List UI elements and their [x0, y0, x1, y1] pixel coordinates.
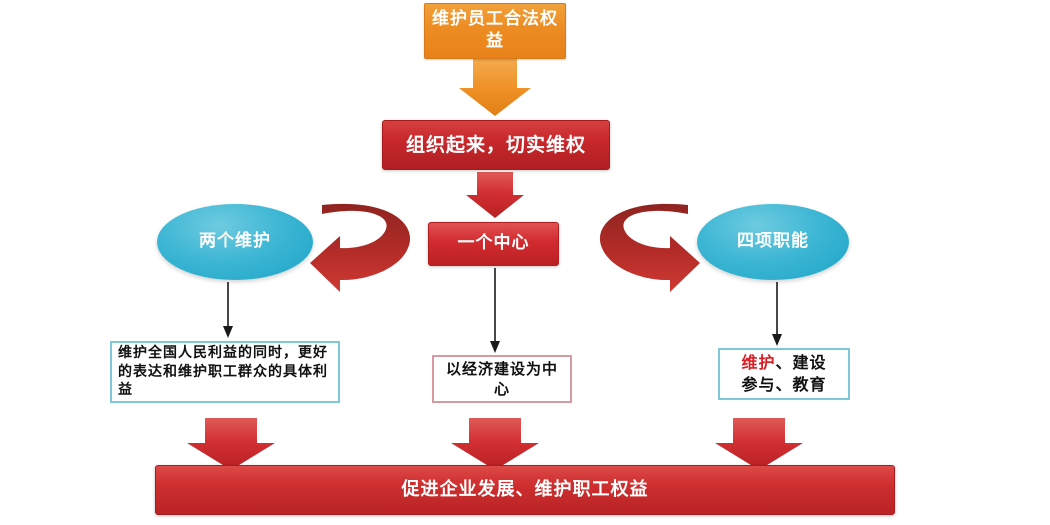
- detail-box-left: 维护全国人民利益的同时，更好的表达和维护职工群众的具体利益: [110, 341, 340, 403]
- detail-box-right: 维护、建设 参与、教育: [718, 348, 850, 400]
- red-block-arrow-down-left-icon: [187, 418, 275, 470]
- thin-arrow-down-center-icon: [490, 268, 500, 353]
- red-block-arrow-down-center-icon: [451, 418, 539, 470]
- title-box: 维护员工合法权益: [424, 3, 566, 59]
- detail-box-center: 以经济建设为中心: [432, 355, 572, 403]
- detail-right-rest: 、建设: [776, 353, 827, 372]
- ellipse-two-maintenances: 两个维护: [157, 204, 313, 280]
- thin-arrow-down-right-icon: [772, 282, 782, 346]
- red-block-arrow-down-right-icon: [715, 418, 803, 470]
- red-block-arrow-down-slogan-icon: [466, 172, 524, 218]
- diagram-canvas: 维护员工合法权益 组织起来，切实维权 两个维护 一个中心 四项职能 维护全国人民…: [0, 0, 1050, 525]
- slogan-box: 组织起来，切实维权: [382, 120, 610, 170]
- detail-right-highlight: 维护: [741, 353, 775, 372]
- curved-arrow-left-icon: [310, 204, 410, 292]
- center-box-one-center: 一个中心: [428, 222, 559, 266]
- orange-block-arrow-down-icon: [459, 59, 531, 116]
- bottom-banner: 促进企业发展、维护职工权益: [155, 465, 895, 515]
- detail-right-line2: 参与、教育: [741, 375, 826, 394]
- thin-arrow-down-left-icon: [223, 282, 233, 338]
- curved-arrow-right-icon: [600, 204, 700, 292]
- ellipse-four-functions: 四项职能: [697, 204, 849, 280]
